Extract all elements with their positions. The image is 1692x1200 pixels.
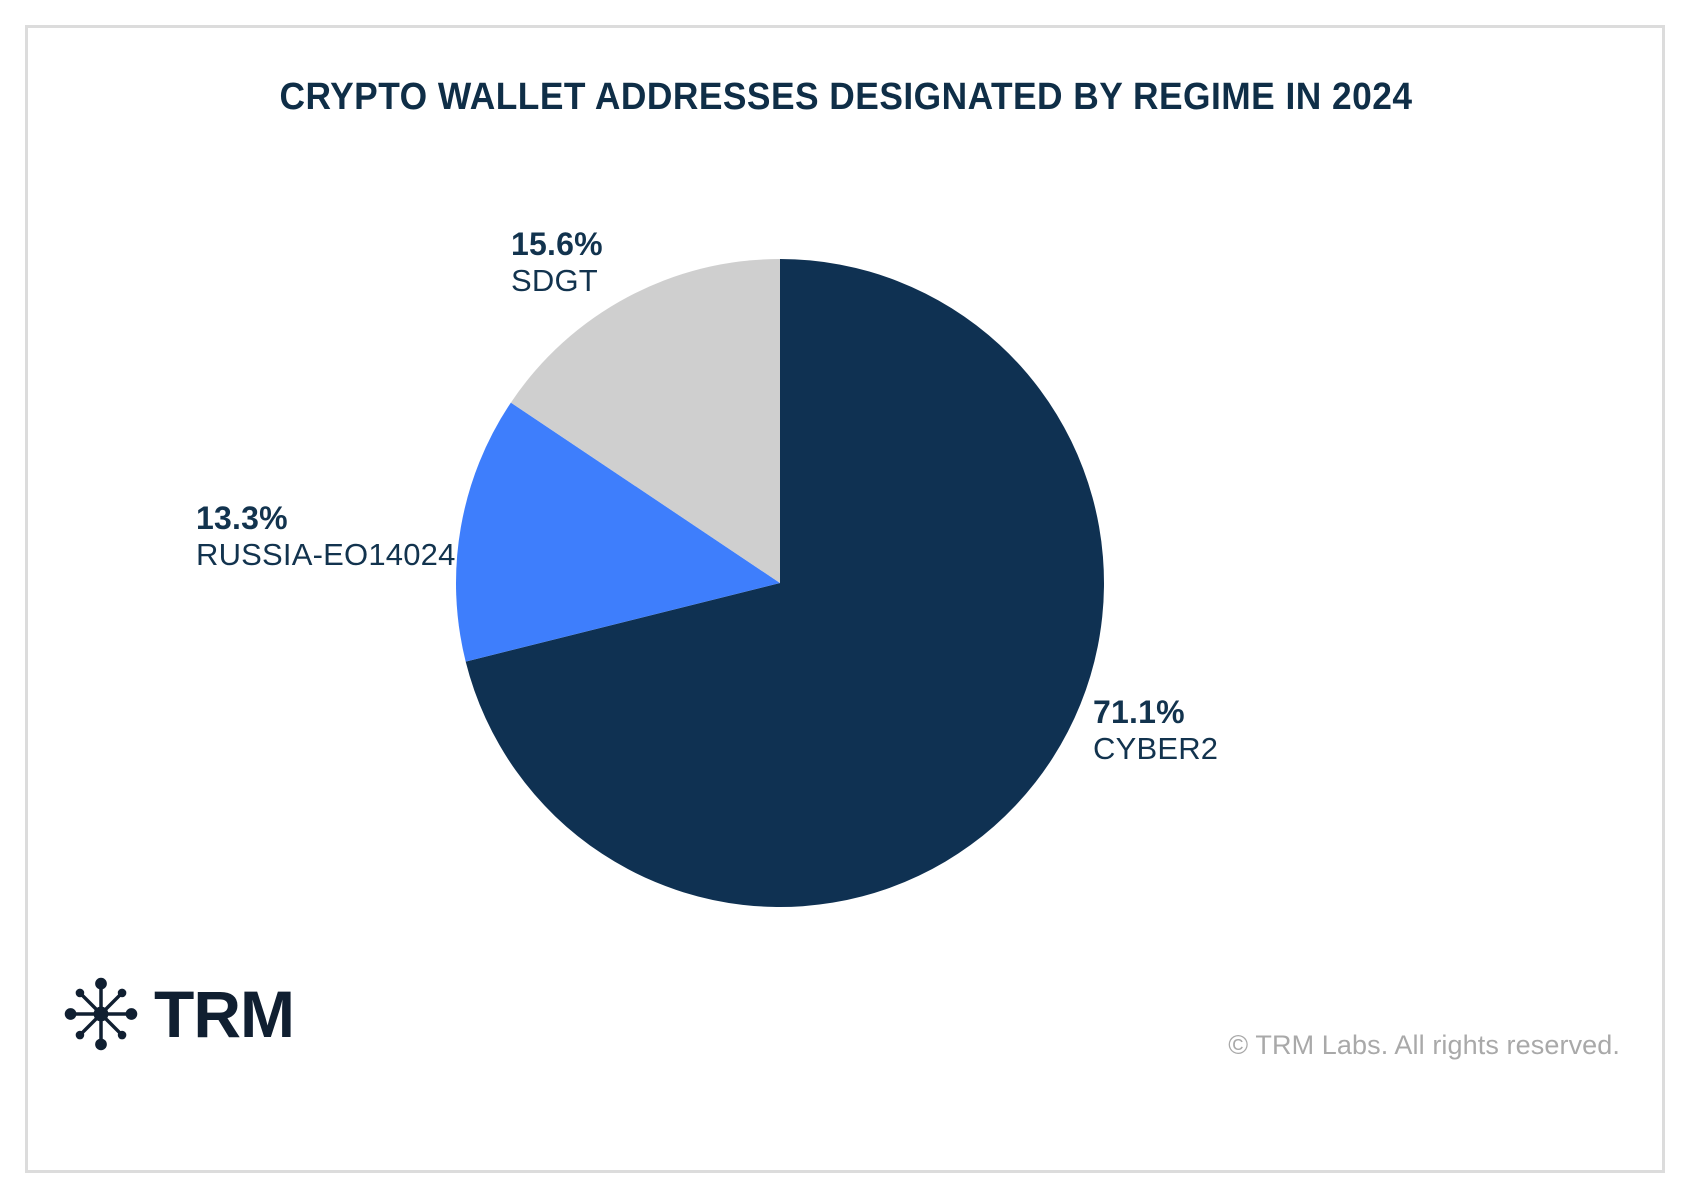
pie-label-sdgt: 15.6% SDGT bbox=[511, 226, 603, 299]
pie-label-cyber2: 71.1% CYBER2 bbox=[1093, 694, 1218, 767]
trm-wordmark: TRM bbox=[154, 981, 294, 1047]
copyright-notice: © TRM Labs. All rights reserved. bbox=[1228, 1030, 1620, 1061]
pie-label-cyber2-name: CYBER2 bbox=[1093, 731, 1218, 767]
pie-label-russia-eo14024: 13.3% RUSSIA-EO14024 bbox=[196, 500, 456, 573]
pie-label-russia-value: 13.3% bbox=[196, 500, 456, 537]
page-title: CRYPTO WALLET ADDRESSES DESIGNATED BY RE… bbox=[59, 74, 1633, 120]
chart-canvas: CRYPTO WALLET ADDRESSES DESIGNATED BY RE… bbox=[0, 0, 1692, 1200]
pie-label-russia-name: RUSSIA-EO14024 bbox=[196, 537, 456, 573]
trm-network-star-icon bbox=[62, 975, 140, 1053]
pie-label-cyber2-value: 71.1% bbox=[1093, 694, 1218, 731]
trm-logo: TRM bbox=[62, 975, 294, 1053]
pie-chart bbox=[455, 258, 1105, 908]
pie-label-sdgt-name: SDGT bbox=[511, 263, 603, 299]
pie-label-sdgt-value: 15.6% bbox=[511, 226, 603, 263]
pie-chart-svg bbox=[455, 258, 1105, 908]
